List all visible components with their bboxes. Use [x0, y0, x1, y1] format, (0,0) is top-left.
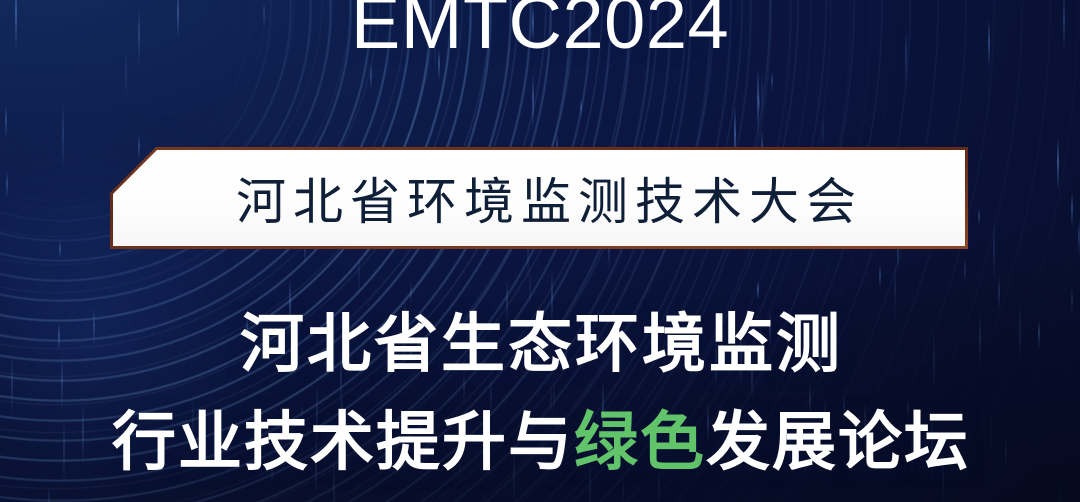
conference-poster: EMTC2024 河北省环境监测技术大会 河北省生态环境监测 行业技术提升与绿色… — [0, 0, 1080, 502]
headline-line-2-part-1: 行业技术提升与 — [112, 406, 574, 478]
headline-line-2-part-2: 发展论坛 — [706, 406, 970, 478]
headline-line-2-accent: 绿色 — [574, 406, 706, 478]
poster-content: EMTC2024 河北省环境监测技术大会 河北省生态环境监测 行业技术提升与绿色… — [0, 0, 1080, 502]
conference-name-plaque: 河北省环境监测技术大会 — [110, 147, 968, 249]
headline-line-2: 行业技术提升与绿色发展论坛 — [0, 410, 1080, 475]
headline-line-1: 河北省生态环境监测 — [0, 312, 1080, 377]
event-code: EMTC2024 — [0, 0, 1080, 60]
plaque-title: 河北省环境监测技术大会 — [110, 147, 968, 249]
